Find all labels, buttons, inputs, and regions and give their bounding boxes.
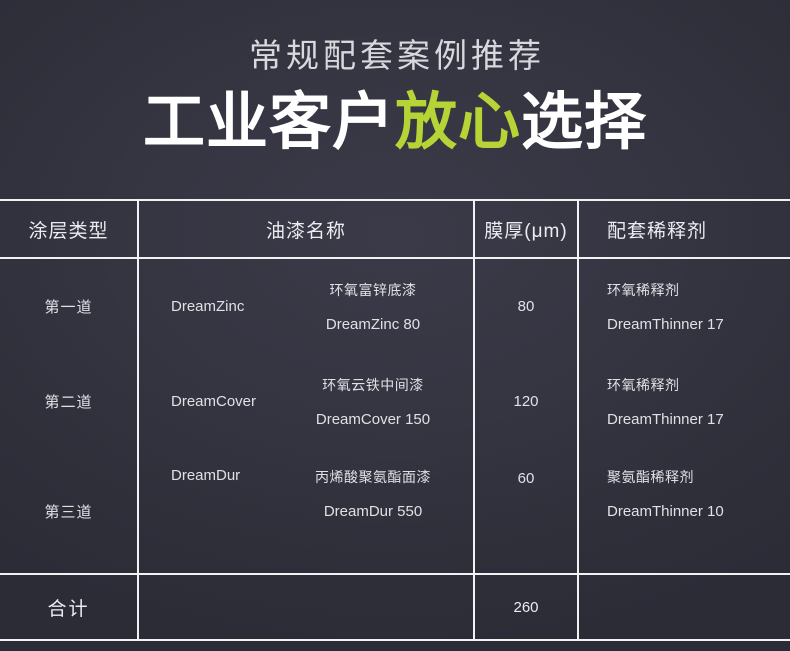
cell-paint-name: DreamDur 丙烯酸聚氨酯面漆 DreamDur 550 [138,449,474,574]
thinner-code: DreamThinner 17 [607,411,790,428]
table-total-row: 合计 260 [0,574,790,640]
paint-brand: DreamCover [139,393,297,410]
promo-page: 常规配套案例推荐 工业客户放心选择 涂层类型 油漆名称 膜厚(μm) 配套稀释剂… [0,0,790,651]
cell-thinner: 环氧稀释剂 DreamThinner 17 [578,258,790,354]
paint-brand: DreamZinc [139,298,297,315]
column-header-paint-name: 油漆名称 [138,200,474,258]
paint-product-cn: 丙烯酸聚氨酯面漆 [297,467,449,487]
thinner-name-cn: 环氧稀释剂 [607,280,790,300]
cell-coat-type: 第一道 [0,258,138,354]
total-paint-name [138,574,474,640]
column-header-coat-type: 涂层类型 [0,200,138,258]
total-film-thickness: 260 [474,574,578,640]
hero-banner: 常规配套案例推荐 工业客户放心选择 [0,0,790,199]
hero-subtitle: 常规配套案例推荐 [0,34,790,78]
total-thinner [578,574,790,640]
hero-title-part2: 选择 [521,88,647,157]
thinner-code: DreamThinner 17 [607,316,790,333]
paint-product: 环氧云铁中间漆 DreamCover 150 [297,375,473,428]
paint-product-code: DreamCover 150 [297,411,449,428]
paint-product-code: DreamDur 550 [297,503,449,520]
hero-title-accent: 放心 [395,88,521,157]
cell-paint-name: DreamCover 环氧云铁中间漆 DreamCover 150 [138,354,474,449]
table-row: 第一道 DreamZinc 环氧富锌底漆 DreamZinc 80 80 环氧稀… [0,258,790,354]
paint-product-cn: 环氧云铁中间漆 [297,375,449,395]
hero-title-part1: 工业客户 [143,88,395,157]
cell-coat-type: 第二道 [0,354,138,449]
paint-product: 丙烯酸聚氨酯面漆 DreamDur 550 [297,467,473,520]
paint-product: 环氧富锌底漆 DreamZinc 80 [297,280,473,333]
thinner-name-cn: 环氧稀释剂 [607,375,790,395]
cell-film-thickness: 120 [474,354,578,449]
thinner-name-cn: 聚氨酯稀释剂 [607,467,790,487]
cell-paint-name: DreamZinc 环氧富锌底漆 DreamZinc 80 [138,258,474,354]
table-row: 第三道 DreamDur 丙烯酸聚氨酯面漆 DreamDur 550 60 聚氨… [0,449,790,574]
total-label: 合计 [0,574,138,640]
paint-product-code: DreamZinc 80 [297,316,449,333]
paint-brand: DreamDur [139,467,297,484]
paint-product-cn: 环氧富锌底漆 [297,280,449,300]
hero-title: 工业客户放心选择 [0,86,790,160]
coating-spec-table: 涂层类型 油漆名称 膜厚(μm) 配套稀释剂 第一道 DreamZinc 环氧富… [0,199,790,641]
column-header-thinner: 配套稀释剂 [578,200,790,258]
cell-thinner: 环氧稀释剂 DreamThinner 17 [578,354,790,449]
table-header-row: 涂层类型 油漆名称 膜厚(μm) 配套稀释剂 [0,200,790,258]
table-row: 第二道 DreamCover 环氧云铁中间漆 DreamCover 150 12… [0,354,790,449]
column-header-film-thickness: 膜厚(μm) [474,200,578,258]
cell-coat-type: 第三道 [0,449,138,574]
cell-thinner: 聚氨酯稀释剂 DreamThinner 10 [578,449,790,574]
cell-film-thickness: 60 [474,449,578,574]
cell-film-thickness: 80 [474,258,578,354]
thinner-code: DreamThinner 10 [607,503,790,520]
